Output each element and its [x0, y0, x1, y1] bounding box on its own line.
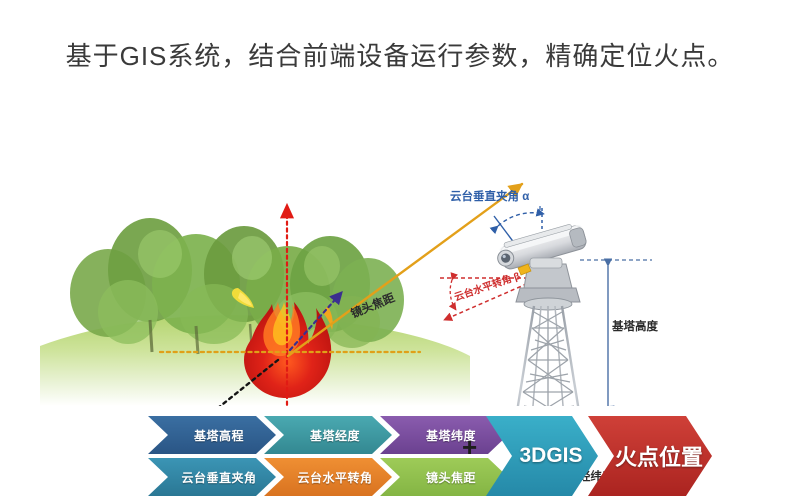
- flow-chip-tower-longitude[interactable]: 基塔经度: [264, 416, 392, 454]
- flow-node-3dgis[interactable]: 3DGIS: [486, 416, 598, 496]
- flow-node-fire-location[interactable]: 火点位置: [588, 416, 712, 496]
- lattice-tower: [498, 306, 598, 406]
- label-tower-height: 基塔高度: [612, 322, 658, 334]
- flow-chip-tower-latitude[interactable]: 基塔纬度: [380, 416, 508, 454]
- flow-chip-label: 基塔经度: [296, 427, 360, 444]
- flow-node-label: 火点位置: [597, 440, 703, 472]
- flow-chip-label: 云台垂直夹角: [167, 469, 256, 486]
- diagram-canvas: 云台垂直夹角 α 云台水平转角 β 镜头焦距 基塔高度 基塔经纬度坐标、海拔高度: [0, 88, 800, 406]
- flow-chip-ptz-vertical-angle[interactable]: 云台垂直夹角: [148, 458, 276, 496]
- flow-chip-ptz-horizontal-angle[interactable]: 云台水平转角: [264, 458, 392, 496]
- screenshot-root: 基于GIS系统，结合前端设备运行参数，精确定位火点。: [0, 0, 800, 500]
- forest-trees: [70, 218, 404, 354]
- flow-chip-tower-elevation[interactable]: 基塔高程: [148, 416, 276, 454]
- plus-operator: +: [462, 432, 477, 463]
- flow-chip-label: 基塔高程: [180, 427, 244, 444]
- flow-chip-lens-focal-length[interactable]: 镜头焦距: [380, 458, 508, 496]
- flow-chip-label: 镜头焦距: [412, 469, 476, 486]
- parameter-flow: 基塔高程 基塔经度 基塔纬度 云台垂直夹角 云台水平转角 镜头焦距 + 3DGI…: [0, 406, 800, 500]
- label-ptz-vertical-angle: 云台垂直夹角 α: [450, 192, 529, 204]
- flow-chip-label: 云台水平转角: [283, 469, 372, 486]
- page-title: 基于GIS系统，结合前端设备运行参数，精确定位火点。: [0, 36, 800, 73]
- flow-node-label: 3DGIS: [501, 444, 582, 468]
- diagram-svg: [0, 88, 800, 406]
